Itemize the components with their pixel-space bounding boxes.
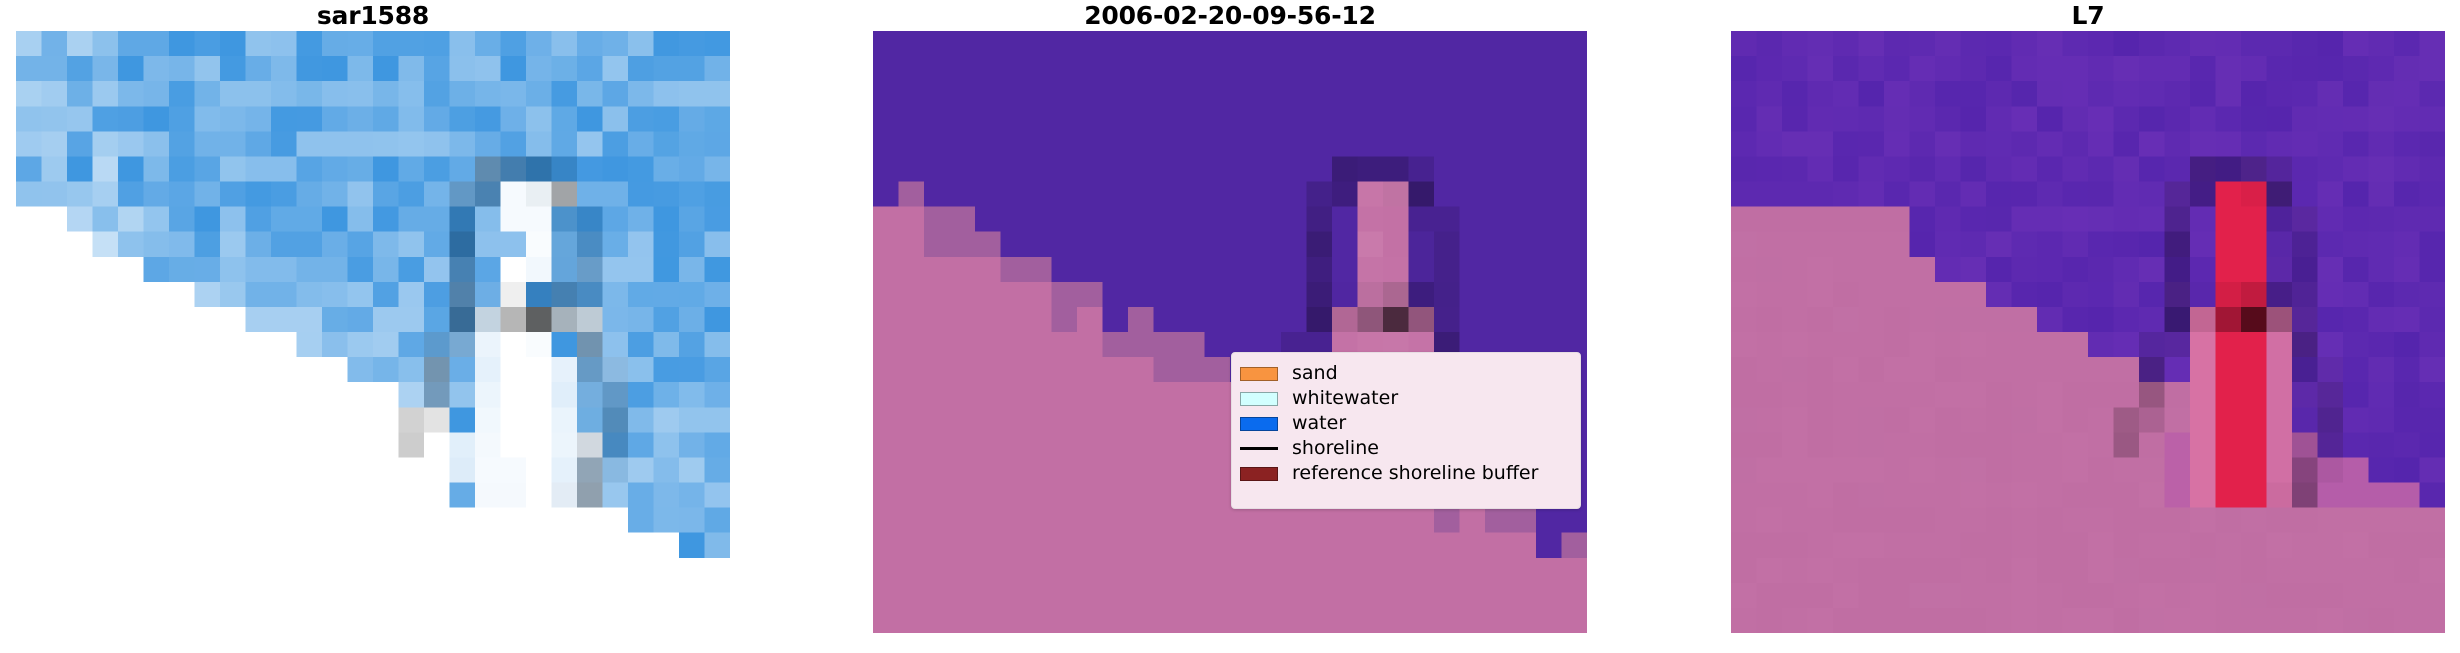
raster-l7[interactable] [1731,31,2445,633]
panel-title-sar1588: sar1588 [16,0,730,31]
legend-swatch-shoreline-icon [1240,447,1278,450]
legend-box[interactable]: sandwhitewaterwatershorelinereference sh… [1231,352,1581,509]
legend-label: reference shoreline buffer [1292,464,1538,483]
axes-l7[interactable] [1731,31,2445,633]
axes-sar1588[interactable] [16,31,730,633]
figure-canvas: sar1588 2006-02-20-09-56-12 L7 sandwhite… [0,0,2460,653]
legend-item-whitewater[interactable]: whitewater [1240,386,1570,411]
axes-classified[interactable] [873,31,1587,633]
panel-title-l7: L7 [1731,0,2445,31]
legend-swatch-sand-icon [1240,367,1278,381]
legend-label: whitewater [1292,389,1398,408]
legend-swatch-reference-shoreline-buffer-icon [1240,467,1278,481]
legend-label: water [1292,414,1346,433]
legend-item-sand[interactable]: sand [1240,361,1570,386]
panel-classified: 2006-02-20-09-56-12 [873,0,1587,653]
legend-label: sand [1292,364,1338,383]
legend-item-reference-shoreline-buffer[interactable]: reference shoreline buffer [1240,461,1570,486]
legend-item-shoreline[interactable]: shoreline [1240,436,1570,461]
legend-swatch-whitewater-icon [1240,392,1278,406]
raster-classified[interactable] [873,31,1587,633]
legend-item-water[interactable]: water [1240,411,1570,436]
panel-sar1588: sar1588 [16,0,730,653]
panel-title-classified: 2006-02-20-09-56-12 [873,0,1587,31]
legend-swatch-water-icon [1240,417,1278,431]
legend-label: shoreline [1292,439,1379,458]
raster-sar1588[interactable] [16,31,730,633]
panel-l7: L7 [1731,0,2445,653]
